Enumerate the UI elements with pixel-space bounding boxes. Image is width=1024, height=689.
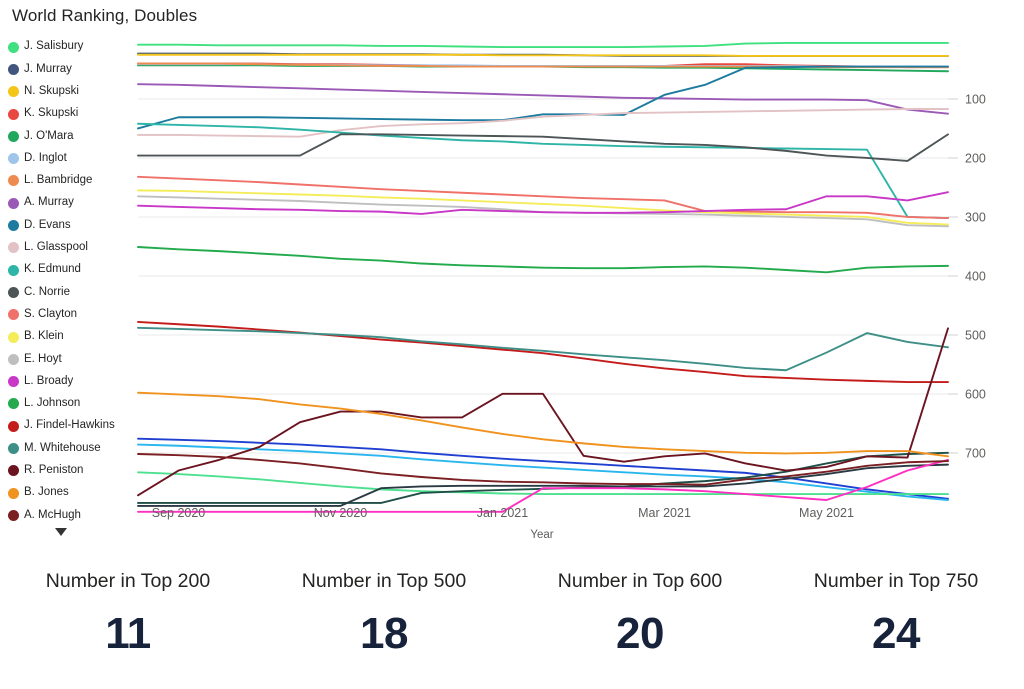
series-line[interactable]: [138, 54, 948, 56]
legend-item-label: L. Glasspool: [24, 242, 88, 254]
kpi-value: 24: [768, 609, 1024, 659]
legend-color-swatch: [8, 265, 19, 276]
legend-item[interactable]: E. Hoyt: [8, 348, 132, 370]
gridlines: [138, 99, 958, 453]
legend-color-swatch: [8, 64, 19, 75]
series-line[interactable]: [138, 454, 948, 485]
series-line[interactable]: [138, 64, 948, 68]
kpi-label: Number in Top 200: [0, 570, 256, 593]
kpi-card[interactable]: Number in Top 60020: [512, 552, 768, 689]
legend-color-swatch: [8, 220, 19, 231]
series-line[interactable]: [138, 328, 948, 370]
legend-item[interactable]: L. Glasspool: [8, 237, 132, 259]
legend-color-swatch: [8, 488, 19, 499]
legend-item[interactable]: J. Murray: [8, 58, 132, 80]
legend-item[interactable]: M. Whitehouse: [8, 437, 132, 459]
x-tick-label: Mar 2021: [638, 506, 691, 520]
series-line[interactable]: [138, 460, 948, 512]
series-line[interactable]: [138, 43, 948, 47]
y-tick-label: 200: [965, 151, 986, 165]
x-tick-label: Jan 2021: [477, 506, 528, 520]
series-line[interactable]: [138, 177, 948, 218]
series-line[interactable]: [138, 465, 948, 506]
legend-item[interactable]: R. Peniston: [8, 460, 132, 482]
series-line[interactable]: [138, 328, 948, 495]
legend-color-swatch: [8, 443, 19, 454]
legend-item-label: J. Murray: [24, 64, 72, 76]
legend-item-label: N. Skupski: [24, 86, 79, 98]
x-axis-title: Year: [530, 529, 553, 541]
legend-item-label: S. Clayton: [24, 309, 77, 321]
legend-item[interactable]: A. Murray: [8, 192, 132, 214]
legend-item-label: K. Edmund: [24, 264, 81, 276]
legend-item-label: M. Whitehouse: [24, 443, 101, 455]
legend-color-swatch: [8, 153, 19, 164]
y-tick-label: 100: [965, 92, 986, 106]
kpi-cards-row: Number in Top 20011Number in Top 50018Nu…: [0, 552, 1024, 689]
y-tick-label: 600: [965, 387, 986, 401]
kpi-value: 18: [256, 609, 512, 659]
legend-item-label: J. Findel-Hawkins: [24, 420, 115, 432]
legend-item[interactable]: J. Findel-Hawkins: [8, 415, 132, 437]
legend-item[interactable]: J. O'Mara: [8, 125, 132, 147]
series-line[interactable]: [138, 109, 948, 137]
series-line[interactable]: [138, 453, 948, 503]
legend-color-swatch: [8, 421, 19, 432]
legend-item-label: L. Johnson: [24, 398, 80, 410]
legend-item-label: J. O'Mara: [24, 131, 73, 143]
kpi-card[interactable]: Number in Top 50018: [256, 552, 512, 689]
plot-svg: 100200300400500600700 Sep 2020Nov 2020Ja…: [0, 0, 1024, 552]
y-tick-label: 700: [965, 446, 986, 460]
series-line[interactable]: [138, 192, 948, 214]
legend-color-swatch: [8, 465, 19, 476]
y-tick-label: 500: [965, 328, 986, 342]
legend-item-label: A. McHugh: [24, 510, 81, 522]
legend-item[interactable]: S. Clayton: [8, 304, 132, 326]
legend-item-label: E. Hoyt: [24, 354, 62, 366]
y-tick-label: 300: [965, 210, 986, 224]
legend-color-swatch: [8, 510, 19, 521]
series-line[interactable]: [138, 439, 948, 499]
kpi-label: Number in Top 600: [512, 570, 768, 593]
legend-item[interactable]: C. Norrie: [8, 281, 132, 303]
kpi-value: 11: [0, 609, 256, 659]
legend-item-label: B. Klein: [24, 331, 64, 343]
legend-item[interactable]: D. Inglot: [8, 147, 132, 169]
series-line[interactable]: [138, 445, 948, 500]
chart-title: World Ranking, Doubles: [12, 6, 197, 26]
legend-item[interactable]: L. Broady: [8, 370, 132, 392]
series-line[interactable]: [138, 322, 948, 382]
series-line[interactable]: [138, 196, 948, 226]
legend-color-swatch: [8, 376, 19, 387]
legend-item[interactable]: L. Bambridge: [8, 170, 132, 192]
y-tick-label: 400: [965, 269, 986, 283]
plot-area: 100200300400500600700 Sep 2020Nov 2020Ja…: [0, 0, 1024, 552]
legend-item-label: R. Peniston: [24, 465, 83, 477]
legend-item[interactable]: N. Skupski: [8, 81, 132, 103]
y-axis-labels: 100200300400500600700: [965, 92, 986, 460]
legend-item-label: C. Norrie: [24, 287, 70, 299]
legend-item-label: B. Jones: [24, 487, 69, 499]
legend-color-swatch: [8, 309, 19, 320]
series-line[interactable]: [138, 64, 948, 68]
legend-color-swatch: [8, 398, 19, 409]
chart-legend[interactable]: J. SalisburyJ. MurrayN. SkupskiK. Skupsk…: [8, 36, 132, 526]
series-line[interactable]: [138, 393, 948, 457]
legend-color-swatch: [8, 175, 19, 186]
kpi-card[interactable]: Number in Top 75024: [768, 552, 1024, 689]
legend-item-label: K. Skupski: [24, 108, 78, 120]
series-line[interactable]: [138, 134, 948, 161]
series-line[interactable]: [138, 472, 948, 494]
legend-item-label: J. Salisbury: [24, 41, 83, 53]
kpi-label: Number in Top 500: [256, 570, 512, 593]
legend-item-label: L. Broady: [24, 376, 73, 388]
legend-color-swatch: [8, 332, 19, 343]
legend-color-swatch: [8, 42, 19, 53]
kpi-label: Number in Top 750: [768, 570, 1024, 593]
legend-color-swatch: [8, 86, 19, 97]
legend-item[interactable]: J. Salisbury: [8, 36, 132, 58]
legend-item-label: D. Evans: [24, 220, 71, 232]
legend-item[interactable]: L. Johnson: [8, 393, 132, 415]
line-chart-visual[interactable]: World Ranking, Doubles J. SalisburyJ. Mu…: [0, 0, 1024, 552]
x-axis-labels: Sep 2020Nov 2020Jan 2021Mar 2021May 2021: [152, 506, 854, 520]
series-line[interactable]: [138, 190, 948, 224]
legend-item[interactable]: B. Jones: [8, 482, 132, 504]
legend-color-swatch: [8, 131, 19, 142]
kpi-card[interactable]: Number in Top 20011: [0, 552, 256, 689]
x-tick-label: Nov 2020: [314, 506, 368, 520]
legend-color-swatch: [8, 242, 19, 253]
series-line[interactable]: [138, 247, 948, 272]
legend-item-label: D. Inglot: [24, 153, 67, 165]
series-line[interactable]: [138, 124, 948, 218]
legend-color-swatch: [8, 198, 19, 209]
legend-color-swatch: [8, 287, 19, 298]
legend-item[interactable]: K. Skupski: [8, 103, 132, 125]
legend-item[interactable]: B. Klein: [8, 326, 132, 348]
series-line[interactable]: [138, 65, 948, 71]
kpi-value: 20: [512, 609, 768, 659]
legend-item-label: A. Murray: [24, 197, 74, 209]
x-tick-label: May 2021: [799, 506, 854, 520]
series-line[interactable]: [138, 64, 948, 66]
series-line[interactable]: [138, 84, 948, 113]
legend-item[interactable]: D. Evans: [8, 214, 132, 236]
series-lines: [138, 43, 948, 512]
legend-color-swatch: [8, 109, 19, 120]
chevron-down-icon[interactable]: [50, 522, 72, 542]
series-line[interactable]: [138, 55, 948, 56]
legend-item[interactable]: K. Edmund: [8, 259, 132, 281]
report-page: World Ranking, Doubles J. SalisburyJ. Mu…: [0, 0, 1024, 689]
legend-item-label: L. Bambridge: [24, 175, 92, 187]
series-line[interactable]: [138, 67, 948, 129]
legend-color-swatch: [8, 354, 19, 365]
x-tick-label: Sep 2020: [152, 506, 206, 520]
